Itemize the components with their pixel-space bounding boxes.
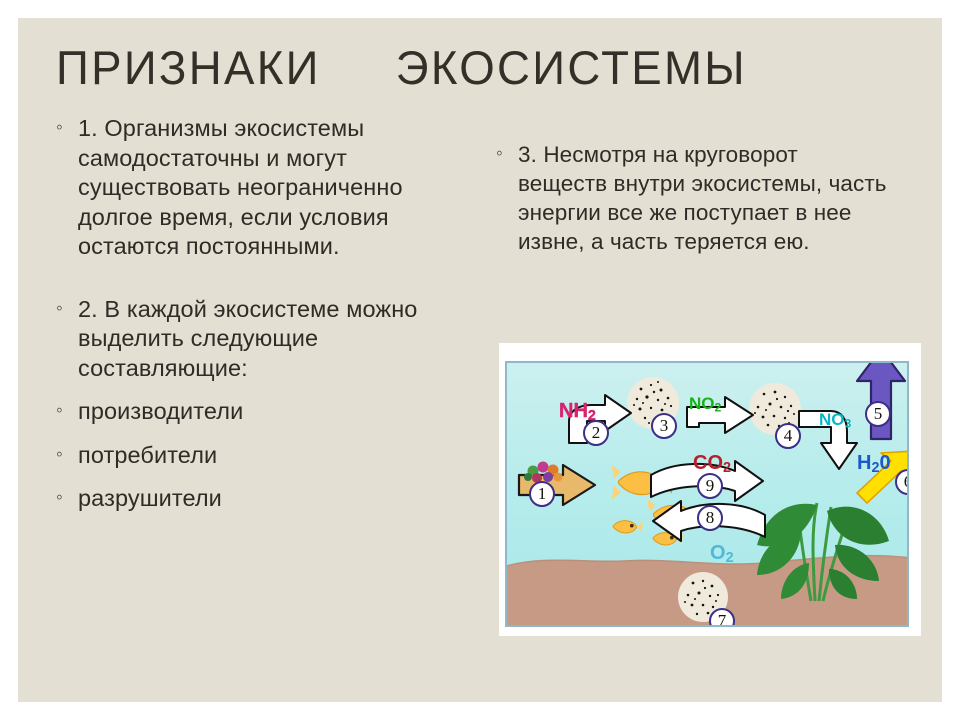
- label-h2o: H20: [857, 453, 891, 476]
- label-o2: O2: [710, 543, 734, 566]
- marker-2: 2: [583, 420, 609, 446]
- marker-1: 1: [529, 481, 555, 507]
- bullet-item-1: 1. Организмы экосистемы самодостаточны и…: [50, 114, 470, 262]
- right-text-column: 3. Несмотря на круговорот веществ внутри…: [490, 140, 890, 262]
- marker-7: 7: [709, 608, 735, 627]
- ecosystem-diagram: NH2 NO2 NO3 CO2 O2 H20 1 2 3 4 5 6 7 8 9: [499, 343, 921, 636]
- marker-3: 3: [651, 413, 677, 439]
- bullet-item-consumers: потребители: [50, 441, 470, 471]
- marker-9: 9: [697, 473, 723, 499]
- food-arrow: [517, 461, 603, 511]
- marker-4: 4: [775, 423, 801, 449]
- bullet-item-decomposers: разрушители: [50, 484, 470, 514]
- bullet-item-producers: производители: [50, 397, 470, 427]
- bullet-item-3: 3. Несмотря на круговорот веществ внутри…: [490, 140, 890, 256]
- aquarium-panel: NH2 NO2 NO3 CO2 O2 H20 1 2 3 4 5 6 7 8 9: [505, 361, 909, 627]
- left-text-column: 1. Организмы экосистемы самодостаточны и…: [50, 114, 470, 520]
- marker-5: 5: [865, 401, 891, 427]
- label-no3: NO3: [819, 411, 851, 430]
- marker-8: 8: [697, 505, 723, 531]
- page-title: ПРИЗНАКИ ЭКОСИСТЕМЫ: [56, 38, 890, 100]
- label-no2: NO2: [689, 395, 721, 414]
- bullet-item-2: 2. В каждой экосистеме можно выделить сл…: [50, 295, 470, 384]
- slide-canvas: ПРИЗНАКИ ЭКОСИСТЕМЫ 1. Организмы экосист…: [18, 18, 942, 702]
